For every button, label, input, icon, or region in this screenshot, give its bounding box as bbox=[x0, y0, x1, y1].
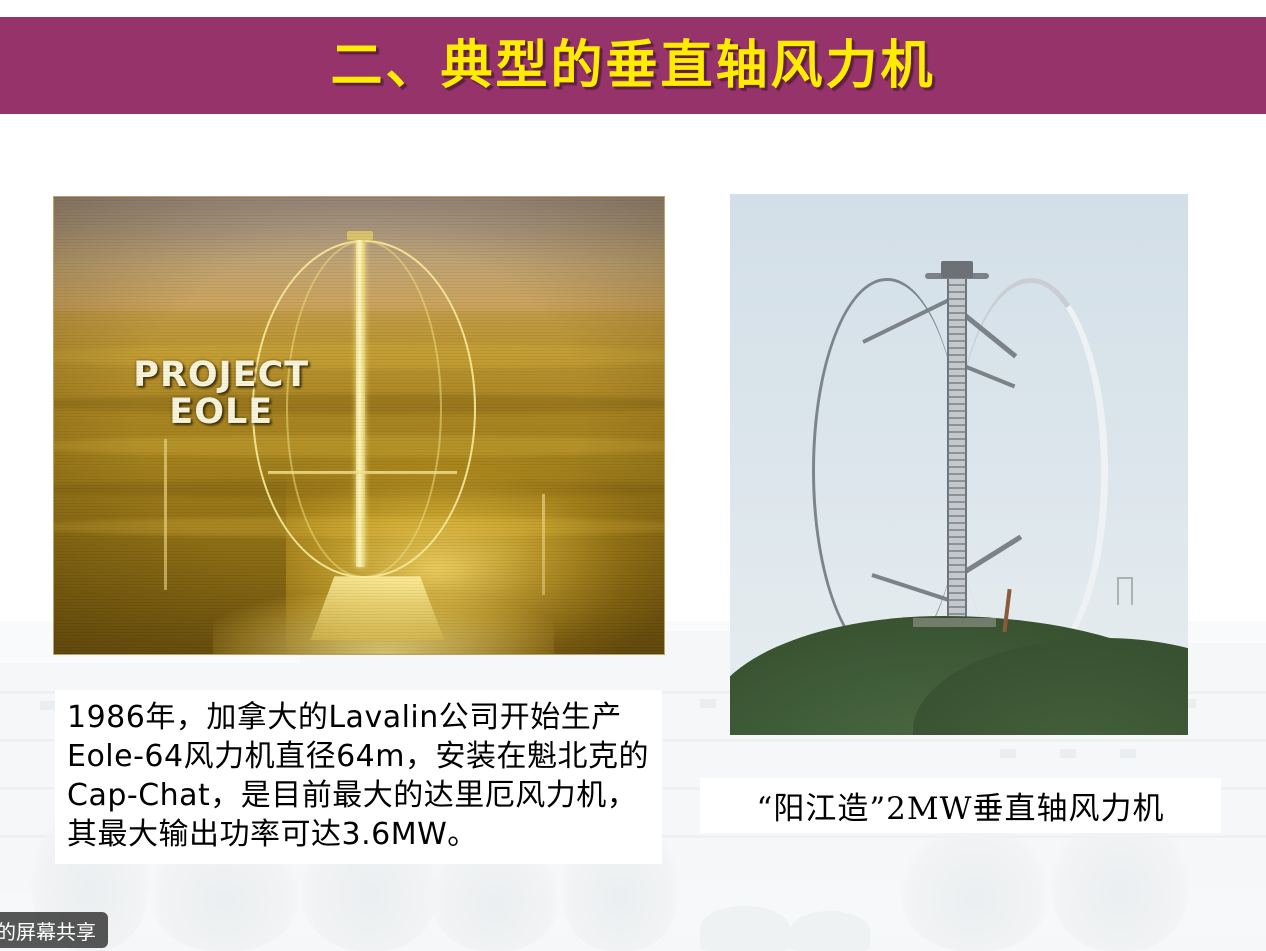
background-window bbox=[1120, 749, 1136, 758]
eole-overlay-text: PROJECT EOLE bbox=[133, 357, 309, 432]
presentation-slide: 二、典型的垂直轴风力机 PROJECT EOLE bbox=[0, 0, 1266, 951]
slide-title: 二、典型的垂直轴风力机 bbox=[0, 40, 1266, 92]
right-figure-caption-box: “阳江造”2MW垂直轴风力机 bbox=[700, 778, 1221, 833]
vawt-blade-right bbox=[954, 278, 1108, 667]
screen-share-label: …电的屏幕共享 bbox=[0, 916, 96, 945]
background-window bbox=[1000, 749, 1016, 758]
background-window bbox=[40, 701, 56, 710]
eole-turbine-cap bbox=[347, 231, 373, 240]
right-figure-caption-text: “阳江造”2MW垂直轴风力机 bbox=[756, 783, 1164, 828]
eole-overlay-line2: EOLE bbox=[169, 394, 309, 431]
background-window bbox=[1060, 749, 1076, 758]
eole-turbine-strut bbox=[268, 471, 457, 474]
title-banner: 二、典型的垂直轴风力机 bbox=[0, 17, 1266, 114]
screen-share-badge[interactable]: …电的屏幕共享 bbox=[0, 912, 108, 948]
background-window bbox=[700, 699, 716, 708]
body-text-line-2: Eole-64风力机直径64m，安装在魁北克的 bbox=[67, 737, 652, 776]
body-text-line-1: 1986年，加拿大的Lavalin公司开始生产 bbox=[67, 698, 652, 737]
vawt-tower-base bbox=[913, 618, 995, 627]
body-text-line-3: Cap-Chat，是目前最大的达里厄风力机， bbox=[67, 776, 652, 815]
body-text-box: 1986年，加拿大的Lavalin公司开始生产 Eole-64风力机直径64m，… bbox=[55, 690, 662, 864]
body-text-line-4: 其最大输出功率可达3.6MW。 bbox=[67, 815, 652, 854]
eole-turbine-mast bbox=[356, 238, 365, 567]
vawt-small-mast bbox=[1117, 577, 1133, 605]
eole-pylon bbox=[542, 494, 545, 595]
vawt-nacelle bbox=[941, 261, 973, 278]
left-figure-project-eole: PROJECT EOLE bbox=[53, 196, 665, 655]
background-shrub bbox=[700, 906, 790, 951]
vawt-lattice-tower bbox=[947, 270, 967, 665]
background-tree bbox=[900, 821, 1050, 951]
right-figure-vawt-photo bbox=[730, 194, 1188, 735]
vawt-blade-left bbox=[812, 278, 962, 663]
eole-pylon bbox=[164, 439, 167, 590]
background-shrub bbox=[790, 911, 870, 951]
eole-overlay-line1: PROJECT bbox=[133, 355, 309, 395]
